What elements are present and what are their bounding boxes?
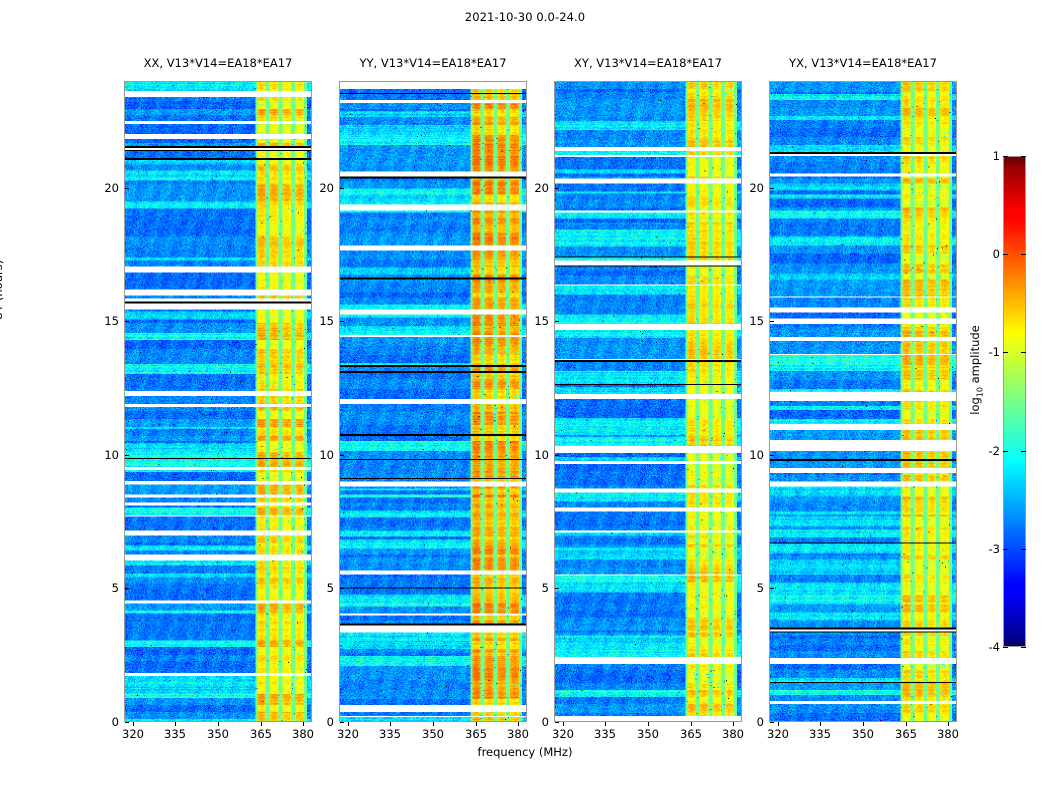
y-tick-mark	[125, 321, 129, 322]
colorbar-label-tail: amplitude	[968, 325, 982, 387]
figure-canvas: 2021-10-30 0.0-24.0 XX, V13*V14=EA18*EA1…	[0, 0, 1050, 800]
x-tick-label: 335	[370, 727, 410, 741]
x-tick-mark	[261, 722, 262, 726]
y-tick-label: 20	[85, 181, 119, 195]
x-tick-label: 335	[585, 727, 625, 741]
waterfall-panel-yy[interactable]	[339, 81, 527, 722]
x-tick-label: 320	[543, 727, 583, 741]
x-tick-mark	[733, 722, 734, 726]
colorbar-tick-mark	[1021, 549, 1026, 550]
y-tick-mark	[555, 188, 559, 189]
colorbar-tick-label: -4	[974, 640, 1000, 654]
x-tick-label: 365	[241, 727, 281, 741]
x-axis-label-text: frequency (MHz)	[85, 745, 965, 759]
x-tick-label: 380	[713, 727, 753, 741]
colorbar-tick-mark	[1021, 451, 1026, 452]
y-tick-label: 15	[85, 314, 119, 328]
x-tick-label: 365	[671, 727, 711, 741]
y-tick-label: 10	[730, 448, 764, 462]
colorbar-tick-label: -3	[974, 542, 1000, 556]
y-tick-label: 20	[300, 181, 334, 195]
y-tick-mark	[770, 455, 774, 456]
colorbar-tick-mark	[1003, 451, 1008, 452]
y-tick-mark	[555, 722, 559, 723]
waterfall-image-xy	[555, 82, 741, 721]
y-tick-mark	[340, 321, 344, 322]
x-tick-label: 320	[758, 727, 798, 741]
waterfall-panel-yx[interactable]	[769, 81, 957, 722]
y-tick-label: 20	[515, 181, 549, 195]
x-tick-label: 380	[498, 727, 538, 741]
y-tick-label: 15	[300, 314, 334, 328]
x-tick-label: 350	[198, 727, 238, 741]
y-tick-label: 10	[515, 448, 549, 462]
x-tick-mark	[303, 722, 304, 726]
y-tick-label: 5	[85, 581, 119, 595]
y-tick-mark	[125, 588, 129, 589]
x-tick-mark	[433, 722, 434, 726]
x-tick-label: 320	[113, 727, 153, 741]
x-tick-mark	[218, 722, 219, 726]
y-tick-mark	[770, 188, 774, 189]
x-tick-label: 365	[886, 727, 926, 741]
y-tick-label: 5	[300, 581, 334, 595]
colorbar-label: log10 amplitude	[968, 240, 984, 500]
x-tick-mark	[133, 722, 134, 726]
colorbar-tick-mark	[1003, 647, 1008, 648]
y-tick-mark	[125, 455, 129, 456]
y-tick-mark	[770, 588, 774, 589]
x-tick-label: 380	[928, 727, 968, 741]
colorbar-label-sub: 10	[975, 387, 984, 397]
figure-suptitle: 2021-10-30 0.0-24.0	[0, 10, 1050, 24]
y-tick-mark	[340, 455, 344, 456]
waterfall-panel-xx[interactable]	[124, 81, 312, 722]
colorbar-tick-mark	[1021, 156, 1026, 157]
x-tick-mark	[820, 722, 821, 726]
y-tick-mark	[340, 188, 344, 189]
waterfall-image-yx	[770, 82, 956, 721]
colorbar-tick-mark	[1003, 156, 1008, 157]
x-tick-mark	[348, 722, 349, 726]
x-tick-label: 365	[456, 727, 496, 741]
x-axis-label: frequency (MHz)	[0, 745, 1050, 759]
y-tick-mark	[340, 588, 344, 589]
colorbar[interactable]	[1003, 156, 1026, 647]
colorbar-tick-label: 1	[974, 149, 1000, 163]
y-tick-mark	[770, 321, 774, 322]
colorbar-label-main: log	[968, 397, 982, 415]
colorbar-tick-mark	[1003, 352, 1008, 353]
y-tick-mark	[125, 188, 129, 189]
x-tick-mark	[948, 722, 949, 726]
x-tick-label: 350	[843, 727, 883, 741]
x-tick-mark	[605, 722, 606, 726]
y-tick-label: 15	[515, 314, 549, 328]
y-tick-label: 5	[515, 581, 549, 595]
x-tick-mark	[778, 722, 779, 726]
x-tick-label: 350	[413, 727, 453, 741]
y-tick-label: 20	[730, 181, 764, 195]
x-tick-mark	[563, 722, 564, 726]
y-tick-label: 10	[300, 448, 334, 462]
x-tick-label: 320	[328, 727, 368, 741]
y-axis-label: UT (hours)	[0, 190, 5, 390]
x-tick-mark	[518, 722, 519, 726]
x-tick-mark	[476, 722, 477, 726]
x-tick-mark	[175, 722, 176, 726]
y-tick-mark	[340, 722, 344, 723]
x-tick-label: 335	[800, 727, 840, 741]
y-tick-mark	[555, 455, 559, 456]
x-tick-label: 335	[155, 727, 195, 741]
colorbar-tick-mark	[1003, 254, 1008, 255]
x-tick-mark	[863, 722, 864, 726]
x-tick-mark	[906, 722, 907, 726]
y-tick-label: 10	[85, 448, 119, 462]
x-tick-label: 350	[628, 727, 668, 741]
x-tick-label: 380	[283, 727, 323, 741]
waterfall-image-yy	[340, 82, 526, 721]
x-tick-mark	[691, 722, 692, 726]
colorbar-tick-mark	[1021, 352, 1026, 353]
x-tick-mark	[648, 722, 649, 726]
waterfall-panel-xy[interactable]	[554, 81, 742, 722]
panel-title-yx: YX, V13*V14=EA18*EA17	[733, 56, 993, 70]
y-tick-mark	[770, 722, 774, 723]
x-tick-mark	[390, 722, 391, 726]
colorbar-tick-mark	[1021, 647, 1026, 648]
waterfall-image-xx	[125, 82, 311, 721]
y-tick-mark	[555, 321, 559, 322]
colorbar-tick-mark	[1003, 549, 1008, 550]
y-tick-label: 15	[730, 314, 764, 328]
y-tick-label: 5	[730, 581, 764, 595]
y-tick-mark	[125, 722, 129, 723]
y-tick-mark	[555, 588, 559, 589]
colorbar-tick-mark	[1021, 254, 1026, 255]
